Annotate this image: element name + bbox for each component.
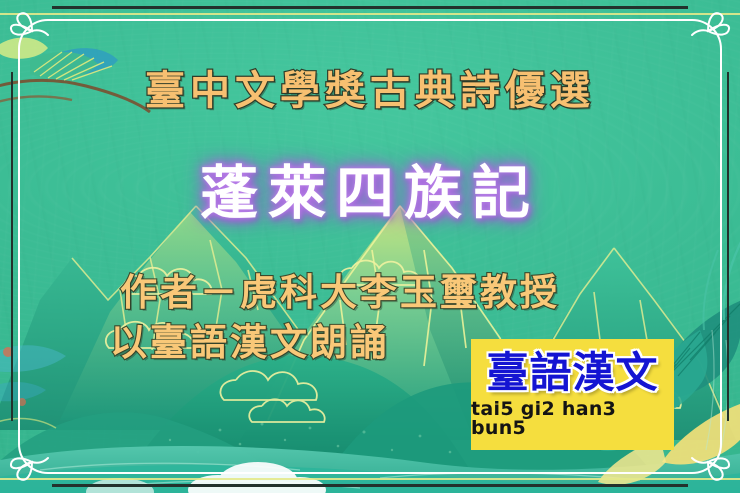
bow-knot-icon bbox=[686, 444, 732, 484]
frame-hairline-bottom bbox=[0, 478, 740, 480]
frame-rail-top bbox=[52, 6, 688, 9]
author-byline: 作者－虎科大李玉璽教授 bbox=[0, 262, 680, 316]
poster-canvas: 臺中文學獎古典詩優選 蓬萊四族記 作者－虎科大李玉璽教授 以臺語漢文朗誦 臺語漢… bbox=[0, 0, 740, 493]
bow-knot-icon bbox=[8, 9, 54, 49]
page-title: 蓬萊四族記 bbox=[0, 146, 740, 230]
taiwanese-hanwen-badge: 臺語漢文 tai5 gi2 han3 bun5 bbox=[471, 339, 674, 450]
frame-rail-right bbox=[727, 72, 729, 421]
recitation-note: 以臺語漢文朗誦 bbox=[0, 312, 500, 366]
bow-knot-icon bbox=[686, 9, 732, 49]
badge-romanization-label: tai5 gi2 han3 bun5 bbox=[471, 400, 674, 438]
award-kicker-text: 臺中文學獎古典詩優選 bbox=[0, 58, 740, 116]
frame-hairline-top bbox=[0, 13, 740, 15]
bow-knot-icon bbox=[8, 444, 54, 484]
frame-rail-left bbox=[11, 72, 13, 421]
badge-chinese-label: 臺語漢文 bbox=[486, 352, 658, 394]
frame-rail-bottom bbox=[52, 484, 688, 487]
